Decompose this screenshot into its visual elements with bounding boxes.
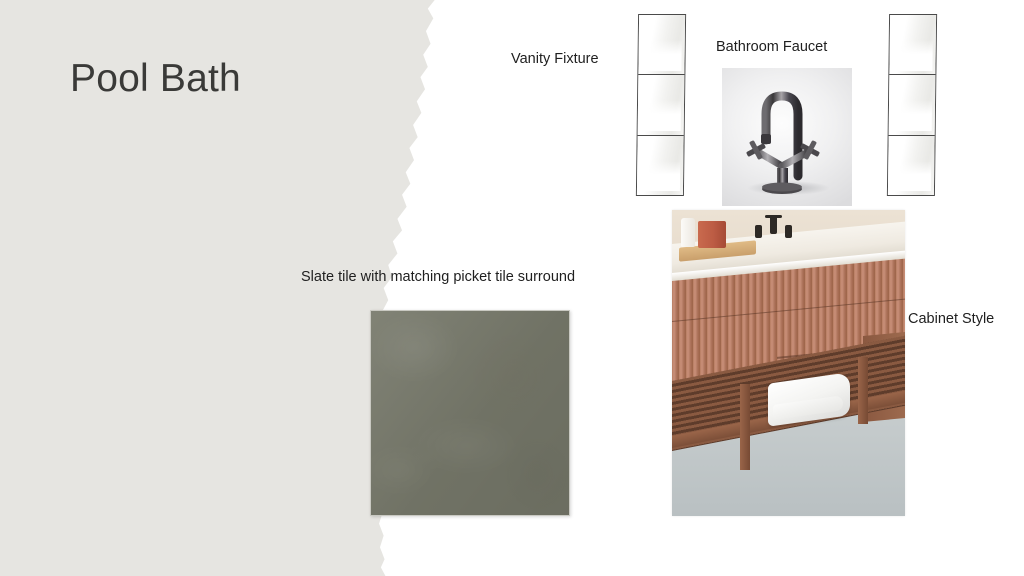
label-vanity-fixture: Vanity Fixture [511, 51, 599, 68]
tile-texture [371, 311, 569, 515]
sink-faucet-fixture [754, 216, 794, 240]
label-bathroom-faucet: Bathroom Faucet [716, 39, 827, 56]
label-cabinet-style: Cabinet Style [908, 311, 994, 328]
cabinet-leg [740, 384, 750, 470]
bathroom-faucet-image [722, 68, 852, 206]
sconce-pane [889, 75, 936, 135]
cabinet-leg [858, 357, 868, 424]
faucet-illustration [722, 68, 852, 206]
sconce-pane [889, 15, 936, 75]
sconce-pane [638, 15, 685, 75]
slide-canvas: Pool Bath Vanity Fixture Bathroom Faucet [0, 0, 1024, 576]
terracotta-canister [698, 221, 726, 249]
sconce-pane [638, 75, 685, 135]
slate-tile-swatch-image [370, 310, 570, 516]
sconce-pane [888, 136, 935, 195]
soap-bottle [681, 218, 695, 247]
faucet-handle-left [755, 225, 762, 238]
page-title: Pool Bath [70, 58, 241, 101]
label-slate-tile: Slate tile with matching picket tile sur… [301, 269, 575, 286]
cabinet-style-image [672, 210, 905, 516]
drawer-seam [672, 298, 905, 322]
vanity-sconce-right-image [887, 14, 937, 196]
sconce-pane [637, 136, 684, 195]
faucet-spout [770, 216, 777, 234]
vanity-sconce-left-image [636, 14, 686, 196]
faucet-handle-right [785, 225, 792, 238]
